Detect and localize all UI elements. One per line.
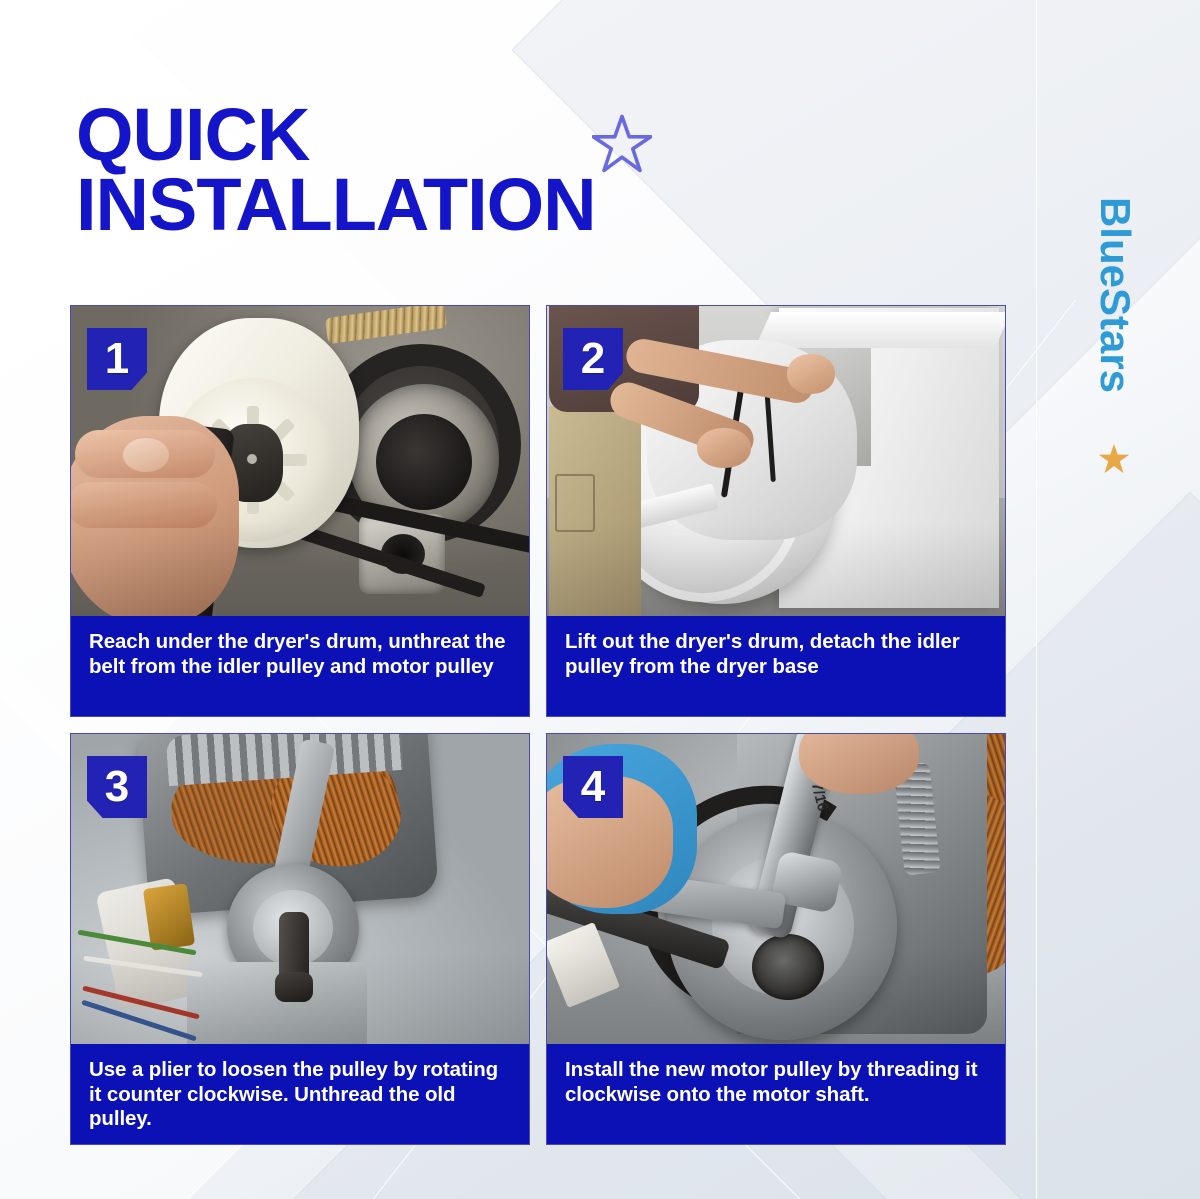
step-caption-3: Use a plier to loosen the pulley by rota… [71,1044,529,1144]
page-title: QUICK INSTALLATION [76,100,836,241]
step-card-4: 7/16 4 Install the new motor pulley by t… [546,733,1006,1145]
installation-infographic: QUICK INSTALLATION BlueStars [0,0,1200,1199]
title-line-1: QUICK [76,100,836,170]
step-photo-1: 1 [71,306,529,616]
steps-grid: 1 Reach under the dryer's drum, unthreat… [70,305,1006,1145]
star-icon [592,114,652,174]
step-photo-2: 2 [547,306,1005,616]
step-caption-2: Lift out the dryer's drum, detach the id… [547,616,1005,716]
step-caption-4: Install the new motor pulley by threadin… [547,1044,1005,1144]
step-card-3: 3 Use a plier to loosen the pulley by ro… [70,733,530,1145]
step-photo-3: 3 [71,734,529,1044]
step-card-2: 2 Lift out the dryer's drum, detach the … [546,305,1006,717]
brand-logo: BlueStars [1085,130,1145,460]
brand-name: BlueStars [1091,197,1139,393]
step-caption-1: Reach under the dryer's drum, unthreat t… [71,616,529,716]
step-photo-4: 7/16 4 [547,734,1005,1044]
title-line-2: INSTALLATION [76,163,596,246]
step-card-1: 1 Reach under the dryer's drum, unthreat… [70,305,530,717]
step-badge-1: 1 [87,328,147,390]
brand-star-icon [1097,442,1131,476]
step-badge-3: 3 [87,756,147,818]
step-badge-4: 4 [563,756,623,818]
step-badge-2: 2 [563,328,623,390]
hand [787,354,835,394]
wiring-harness [89,922,199,1042]
